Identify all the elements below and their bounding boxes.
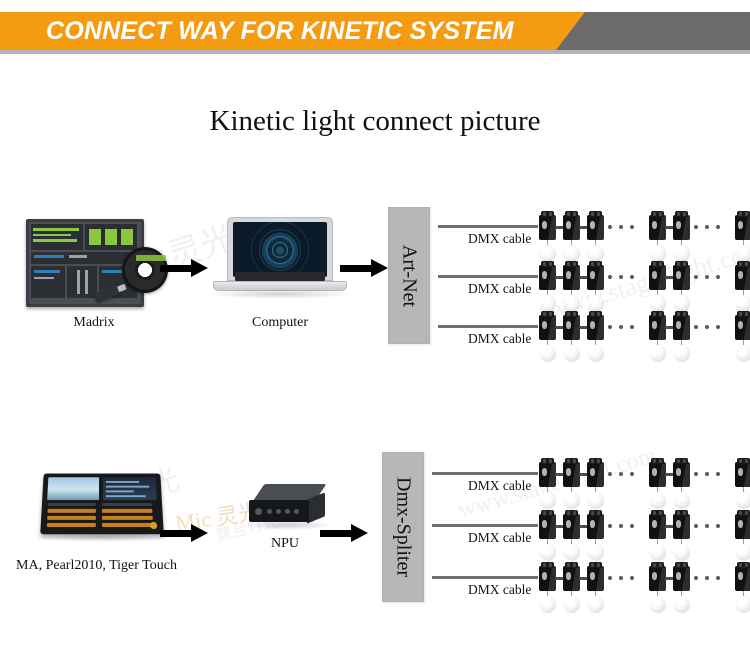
page-title: Kinetic light connect picture — [0, 105, 750, 138]
fixture-chain — [538, 209, 750, 265]
fixture-lens-icon — [652, 321, 657, 329]
kinetic-light-winch[interactable] — [648, 209, 668, 265]
kinetic-light-winch[interactable] — [562, 508, 582, 564]
kinetic-light-winch[interactable] — [586, 508, 606, 564]
fixture-top-cap — [589, 562, 602, 568]
kinetic-light-winch[interactable] — [672, 209, 692, 265]
fixture-top-cap — [737, 510, 750, 516]
console-label: MA, Pearl2010, Tiger Touch — [0, 558, 193, 574]
laptop-screen — [233, 222, 327, 277]
ellipsis-dots — [694, 524, 720, 528]
laptop-keyboard — [235, 272, 325, 281]
kinetic-light-winch[interactable] — [672, 560, 692, 616]
dmx-cable-line — [438, 275, 538, 278]
kinetic-light-winch[interactable] — [648, 560, 668, 616]
fixture-led-ball — [540, 544, 556, 560]
fixture-lens-icon — [542, 468, 547, 476]
fixture-lens-icon — [590, 468, 595, 476]
fixture-top-cap — [565, 261, 578, 267]
kinetic-light-winch[interactable] — [648, 456, 668, 512]
dmx-cable-label: DMX cable — [468, 530, 531, 546]
kinetic-light-winch[interactable] — [586, 309, 606, 365]
kinetic-light-winch[interactable] — [734, 259, 750, 315]
console-screen-right — [103, 477, 157, 500]
fixture-chain — [538, 560, 750, 616]
fixture-chain — [538, 508, 750, 564]
fixture-top-cap — [589, 311, 602, 317]
fixture-top-cap — [565, 311, 578, 317]
fixture-top-cap — [589, 510, 602, 516]
fixture-lens-icon — [738, 468, 743, 476]
kinetic-light-winch[interactable] — [672, 309, 692, 365]
console-body — [40, 474, 164, 535]
kinetic-light-winch[interactable] — [586, 209, 606, 265]
fixture-top-cap — [675, 510, 688, 516]
kinetic-light-winch[interactable] — [672, 456, 692, 512]
dmx-cable-label: DMX cable — [468, 331, 531, 347]
kinetic-light-winch[interactable] — [562, 456, 582, 512]
madrix-label: Madrix — [14, 315, 174, 331]
header-banner: CONNECT WAY FOR KINETIC SYSTEM — [0, 12, 750, 50]
fixture-top-cap — [541, 261, 554, 267]
fixture-top-cap — [737, 562, 750, 568]
fixture-led-ball — [540, 492, 556, 508]
dmx-cable-label: DMX cable — [468, 478, 531, 494]
kinetic-light-winch[interactable] — [586, 456, 606, 512]
fixture-top-cap — [565, 510, 578, 516]
dmx-cable-label: DMX cable — [468, 281, 531, 297]
ellipsis-dots — [694, 472, 720, 476]
fixture-top-cap — [737, 311, 750, 317]
kinetic-light-winch[interactable] — [586, 560, 606, 616]
fixture-top-cap — [737, 211, 750, 217]
fixture-top-cap — [651, 211, 664, 217]
fixture-lens-icon — [652, 221, 657, 229]
kinetic-light-winch[interactable] — [672, 259, 692, 315]
kinetic-light-winch[interactable] — [586, 259, 606, 315]
fixture-lens-icon — [542, 221, 547, 229]
fixture-lens-icon — [652, 572, 657, 580]
ellipsis-dots — [694, 325, 720, 329]
kinetic-light-winch[interactable] — [734, 309, 750, 365]
fixture-top-cap — [541, 211, 554, 217]
fixture-lens-icon — [676, 572, 681, 580]
fixture-lens-icon — [542, 321, 547, 329]
fixture-top-cap — [675, 211, 688, 217]
fixture-led-ball — [588, 492, 604, 508]
fixture-led-ball — [650, 596, 666, 612]
fixture-top-cap — [651, 510, 664, 516]
console-knob — [150, 522, 158, 529]
kinetic-light-winch[interactable] — [648, 259, 668, 315]
fixture-lens-icon — [590, 572, 595, 580]
fixture-top-cap — [541, 562, 554, 568]
fixture-lens-icon — [590, 520, 595, 528]
fixture-led-ball — [674, 345, 690, 361]
fixture-lens-icon — [566, 468, 571, 476]
fixture-led-ball — [588, 596, 604, 612]
fixture-led-ball — [650, 345, 666, 361]
dmx-cable-label: DMX cable — [468, 582, 531, 598]
ellipsis-dots — [694, 576, 720, 580]
fixture-lens-icon — [542, 271, 547, 279]
fixture-lens-icon — [542, 520, 547, 528]
fixture-lens-icon — [738, 520, 743, 528]
kinetic-light-winch[interactable] — [562, 259, 582, 315]
fixture-led-ball — [736, 544, 750, 560]
fixture-top-cap — [541, 458, 554, 464]
kinetic-light-winch[interactable] — [648, 508, 668, 564]
ellipsis-dots — [608, 325, 634, 329]
fixture-led-ball — [650, 492, 666, 508]
npu-front-face — [249, 500, 309, 522]
dmx-cable-line — [438, 325, 538, 328]
fixture-lens-icon — [652, 271, 657, 279]
fixture-led-ball — [564, 544, 580, 560]
dmx-spliter-controller[interactable]: Dmx-Spliter — [382, 452, 424, 602]
arrow-console-to-npu — [160, 524, 208, 542]
fixture-led-ball — [736, 345, 750, 361]
fixture-lens-icon — [676, 271, 681, 279]
arrow-computer-to-artnet — [340, 259, 388, 277]
ellipsis-dots — [608, 524, 634, 528]
kinetic-light-winch[interactable] — [562, 209, 582, 265]
fixture-top-cap — [541, 311, 554, 317]
fixture-led-ball — [650, 544, 666, 560]
dmx-cable-line — [438, 225, 538, 228]
kinetic-light-winch[interactable] — [538, 508, 558, 564]
ellipsis-dots — [608, 275, 634, 279]
dmx-cable-line — [432, 524, 538, 527]
fixture-lens-icon — [738, 572, 743, 580]
ellipsis-dots — [694, 275, 720, 279]
kinetic-light-winch[interactable] — [734, 508, 750, 564]
fixture-top-cap — [651, 562, 664, 568]
fixture-top-cap — [589, 261, 602, 267]
fixture-top-cap — [651, 261, 664, 267]
kinetic-light-winch[interactable] — [734, 209, 750, 265]
dmx-spliter-label: Dmx-Spliter — [392, 477, 415, 577]
fixture-lens-icon — [566, 321, 571, 329]
madrix-device: Madrix — [14, 211, 174, 321]
fixture-lens-icon — [738, 321, 743, 329]
fixture-led-ball — [674, 596, 690, 612]
kinetic-light-winch[interactable] — [562, 560, 582, 616]
console-screen-left — [47, 477, 99, 500]
kinetic-light-winch[interactable] — [538, 259, 558, 315]
kinetic-light-winch[interactable] — [538, 560, 558, 616]
ellipsis-dots — [608, 225, 634, 229]
fixture-top-cap — [589, 211, 602, 217]
fixture-led-ball — [540, 345, 556, 361]
fixture-top-cap — [565, 211, 578, 217]
computer-device: Computer — [205, 217, 355, 317]
kinetic-light-winch[interactable] — [538, 309, 558, 365]
laptop-shadow — [205, 289, 355, 299]
fixture-lens-icon — [652, 468, 657, 476]
kinetic-light-winch[interactable] — [648, 309, 668, 365]
fixture-top-cap — [737, 458, 750, 464]
fixture-top-cap — [675, 261, 688, 267]
diagram-row-artnet: Madrix Computer Art-Net DMX cable DMX ca… — [0, 195, 750, 395]
fixture-lens-icon — [676, 321, 681, 329]
ellipsis-dots — [694, 225, 720, 229]
kinetic-light-winch[interactable] — [538, 209, 558, 265]
fixture-top-cap — [565, 562, 578, 568]
fixture-lens-icon — [566, 271, 571, 279]
fixture-lens-icon — [566, 221, 571, 229]
fixture-led-ball — [674, 492, 690, 508]
kinetic-light-winch[interactable] — [562, 309, 582, 365]
arrow-madrix-to-computer — [160, 259, 208, 277]
diagram-row-dmx-splitter: MA, Pearl2010, Tiger Touch NPU Dmx-Split… — [0, 440, 750, 640]
dmx-cable-line — [432, 472, 538, 475]
fixture-lens-icon — [738, 221, 743, 229]
fixture-top-cap — [675, 311, 688, 317]
fixture-lens-icon — [676, 468, 681, 476]
fixture-top-cap — [675, 562, 688, 568]
fixture-top-cap — [651, 458, 664, 464]
fixture-led-ball — [564, 345, 580, 361]
fixture-led-ball — [736, 492, 750, 508]
kinetic-light-winch[interactable] — [538, 456, 558, 512]
arrow-npu-to-splitter — [320, 524, 368, 542]
lighting-console-device: MA, Pearl2010, Tiger Touch — [14, 458, 179, 568]
console-shadow — [32, 532, 172, 542]
npu-device: NPU — [215, 466, 355, 566]
fixture-led-ball — [564, 492, 580, 508]
fixture-lens-icon — [676, 520, 681, 528]
dmx-cable-line — [432, 576, 538, 579]
fixture-led-ball — [564, 596, 580, 612]
kinetic-light-winch[interactable] — [734, 560, 750, 616]
fixture-top-cap — [651, 311, 664, 317]
fixture-lens-icon — [566, 572, 571, 580]
art-net-label: Art-Net — [398, 244, 421, 306]
ellipsis-dots — [608, 472, 634, 476]
computer-label: Computer — [205, 315, 355, 331]
kinetic-light-winch[interactable] — [734, 456, 750, 512]
fixture-lens-icon — [590, 271, 595, 279]
fixture-led-ball — [540, 596, 556, 612]
fixture-top-cap — [565, 458, 578, 464]
fixture-led-ball — [588, 544, 604, 560]
fixture-lens-icon — [676, 221, 681, 229]
fixture-led-ball — [736, 596, 750, 612]
ellipsis-dots — [608, 576, 634, 580]
fixture-lens-icon — [590, 221, 595, 229]
fixture-top-cap — [737, 261, 750, 267]
fixture-lens-icon — [566, 520, 571, 528]
fixture-top-cap — [675, 458, 688, 464]
fixture-led-ball — [674, 544, 690, 560]
fixture-lens-icon — [542, 572, 547, 580]
fixture-chain — [538, 456, 750, 512]
dmx-cable-label: DMX cable — [468, 231, 531, 247]
banner-underline — [0, 50, 750, 54]
fixture-lens-icon — [652, 520, 657, 528]
banner-title: CONNECT WAY FOR KINETIC SYSTEM — [46, 12, 514, 50]
fixture-lens-icon — [738, 271, 743, 279]
fixture-led-ball — [588, 345, 604, 361]
fixture-top-cap — [589, 458, 602, 464]
fixture-lens-icon — [590, 321, 595, 329]
art-net-controller[interactable]: Art-Net — [388, 207, 430, 344]
kinetic-light-winch[interactable] — [672, 508, 692, 564]
fixture-chain — [538, 309, 750, 365]
fixture-chain — [538, 259, 750, 315]
fixture-top-cap — [541, 510, 554, 516]
